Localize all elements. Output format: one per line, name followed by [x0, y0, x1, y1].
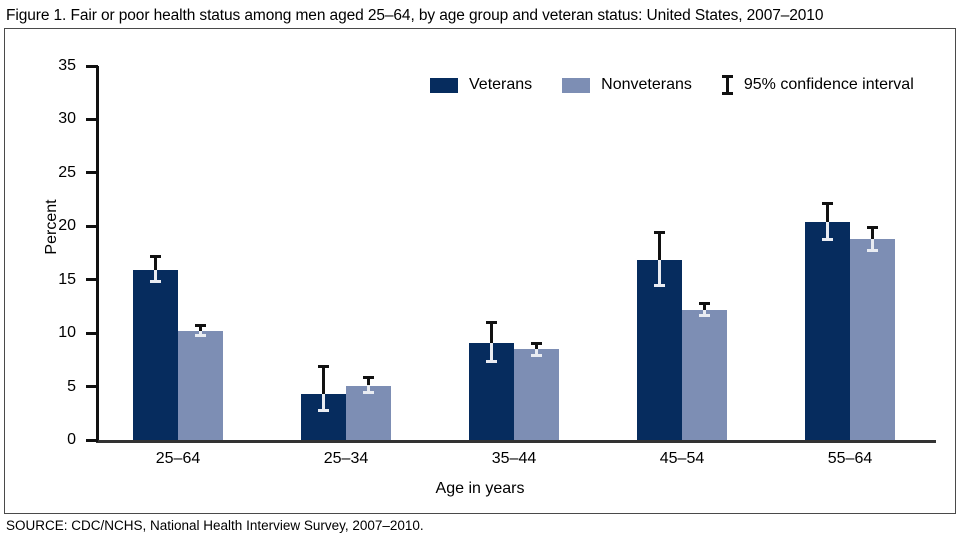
error-bar-veterans-55-64 [822, 202, 833, 242]
error-bar-nonveterans-45-54 [699, 302, 710, 317]
x-axis-title: Age in years [0, 480, 960, 498]
y-axis-tick [86, 171, 98, 174]
error-bar-veterans-25-64 [150, 255, 161, 283]
y-axis-tick [86, 332, 98, 335]
y-axis-tick-label: 0 [16, 432, 76, 448]
y-axis-tick-label: 5 [16, 379, 76, 395]
x-axis-group-label: 45–54 [612, 450, 752, 468]
y-axis-tick [86, 65, 98, 68]
error-bar-nonveterans-25-64 [195, 324, 206, 338]
source-note: SOURCE: CDC/NCHS, National Health Interv… [6, 518, 424, 534]
error-bar-veterans-25-34 [318, 365, 329, 412]
error-bar-veterans-35-44 [486, 321, 497, 363]
y-axis-tick [86, 225, 98, 228]
y-axis-tick-label: 25 [16, 165, 76, 181]
error-bar-nonveterans-55-64 [867, 226, 878, 252]
x-axis-group-label: 25–34 [276, 450, 416, 468]
y-axis-tick-label: 30 [16, 111, 76, 127]
plot-area [96, 66, 936, 440]
bar-nonveterans-45-54 [682, 310, 727, 440]
y-axis-tick [86, 439, 98, 442]
y-axis-tick [86, 385, 98, 388]
bar-veterans-45-54 [637, 260, 682, 440]
error-bar-nonveterans-25-34 [363, 376, 374, 394]
x-axis-group-label: 25–64 [108, 450, 248, 468]
bar-nonveterans-35-44 [514, 349, 559, 440]
x-axis-group-label: 55–64 [780, 450, 920, 468]
x-axis-group-label: 35–44 [444, 450, 584, 468]
y-axis-tick-label: 15 [16, 272, 76, 288]
error-bar-veterans-45-54 [654, 231, 665, 288]
bar-nonveterans-25-64 [178, 331, 223, 440]
y-axis-tick-label: 35 [16, 58, 76, 74]
bar-nonveterans-55-64 [850, 239, 895, 440]
y-axis-tick-label: 20 [16, 218, 76, 234]
y-axis-tick [86, 278, 98, 281]
page-title: Figure 1. Fair or poor health status amo… [6, 7, 823, 25]
y-axis-tick [86, 118, 98, 121]
error-bar-nonveterans-35-44 [531, 342, 542, 357]
bar-veterans-55-64 [805, 222, 850, 440]
y-axis-tick-label: 10 [16, 325, 76, 341]
bar-veterans-25-64 [133, 270, 178, 440]
x-axis-line [96, 440, 936, 443]
